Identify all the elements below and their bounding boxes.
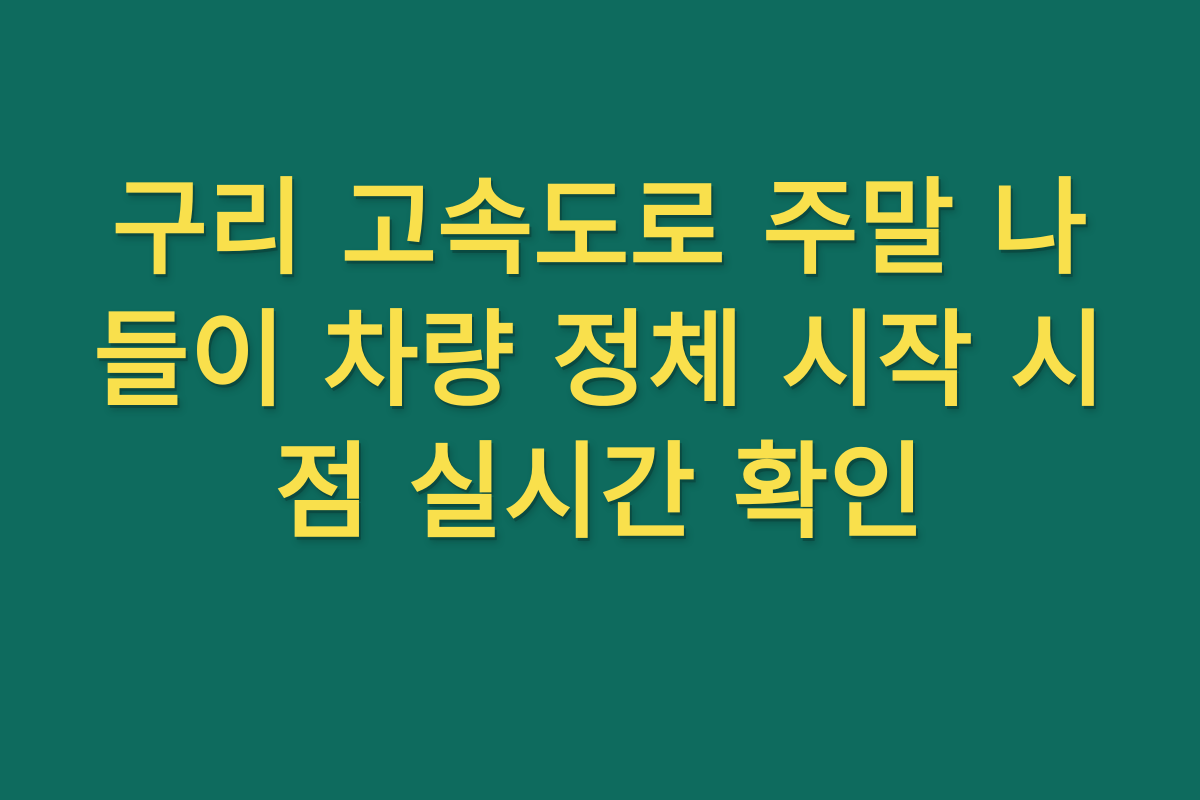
thumbnail-canvas: 구리 고속도로 주말 나 들이 차량 정체 시작 시 점 실시간 확인 bbox=[0, 0, 1200, 800]
headline-line-2: 들이 차량 정체 시작 시 bbox=[94, 294, 1106, 426]
headline-block: 구리 고속도로 주말 나 들이 차량 정체 시작 시 점 실시간 확인 bbox=[100, 162, 1100, 558]
headline-line-3: 점 실시간 확인 bbox=[275, 426, 926, 558]
headline-line-1: 구리 고속도로 주말 나 bbox=[112, 162, 1088, 294]
